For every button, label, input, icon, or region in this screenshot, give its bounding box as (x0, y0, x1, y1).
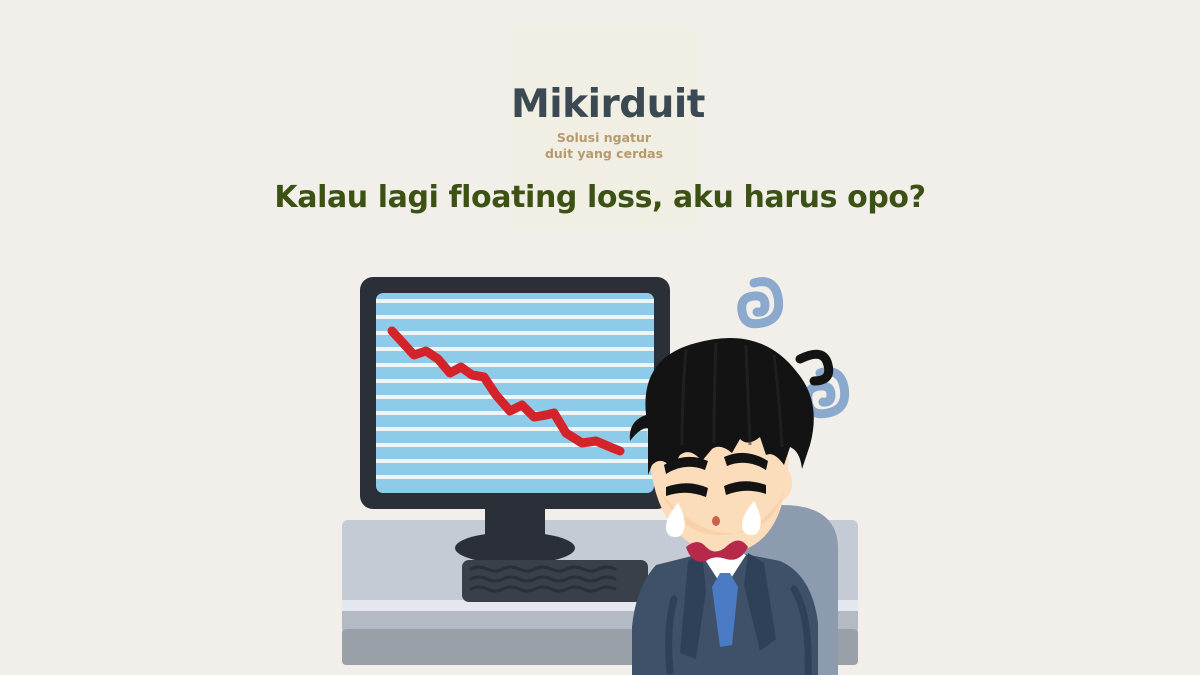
poster-canvas: Mikirduit Solusi ngatur duit yang cerdas… (0, 0, 1200, 675)
brand-wordmark: Mikirduit (511, 85, 697, 124)
keyboard (462, 560, 648, 602)
nose (712, 516, 720, 526)
monitor-screen (376, 293, 654, 493)
ahoge-curl (800, 354, 829, 381)
businessman-body (632, 549, 818, 675)
gloom-swirl-icon (742, 282, 779, 324)
illustration (330, 255, 890, 675)
brand-tagline: Solusi ngatur duit yang cerdas (511, 130, 697, 162)
page-title: Kalau lagi floating loss, aku harus opo? (0, 180, 1200, 215)
monitor-stand-base (455, 532, 575, 564)
